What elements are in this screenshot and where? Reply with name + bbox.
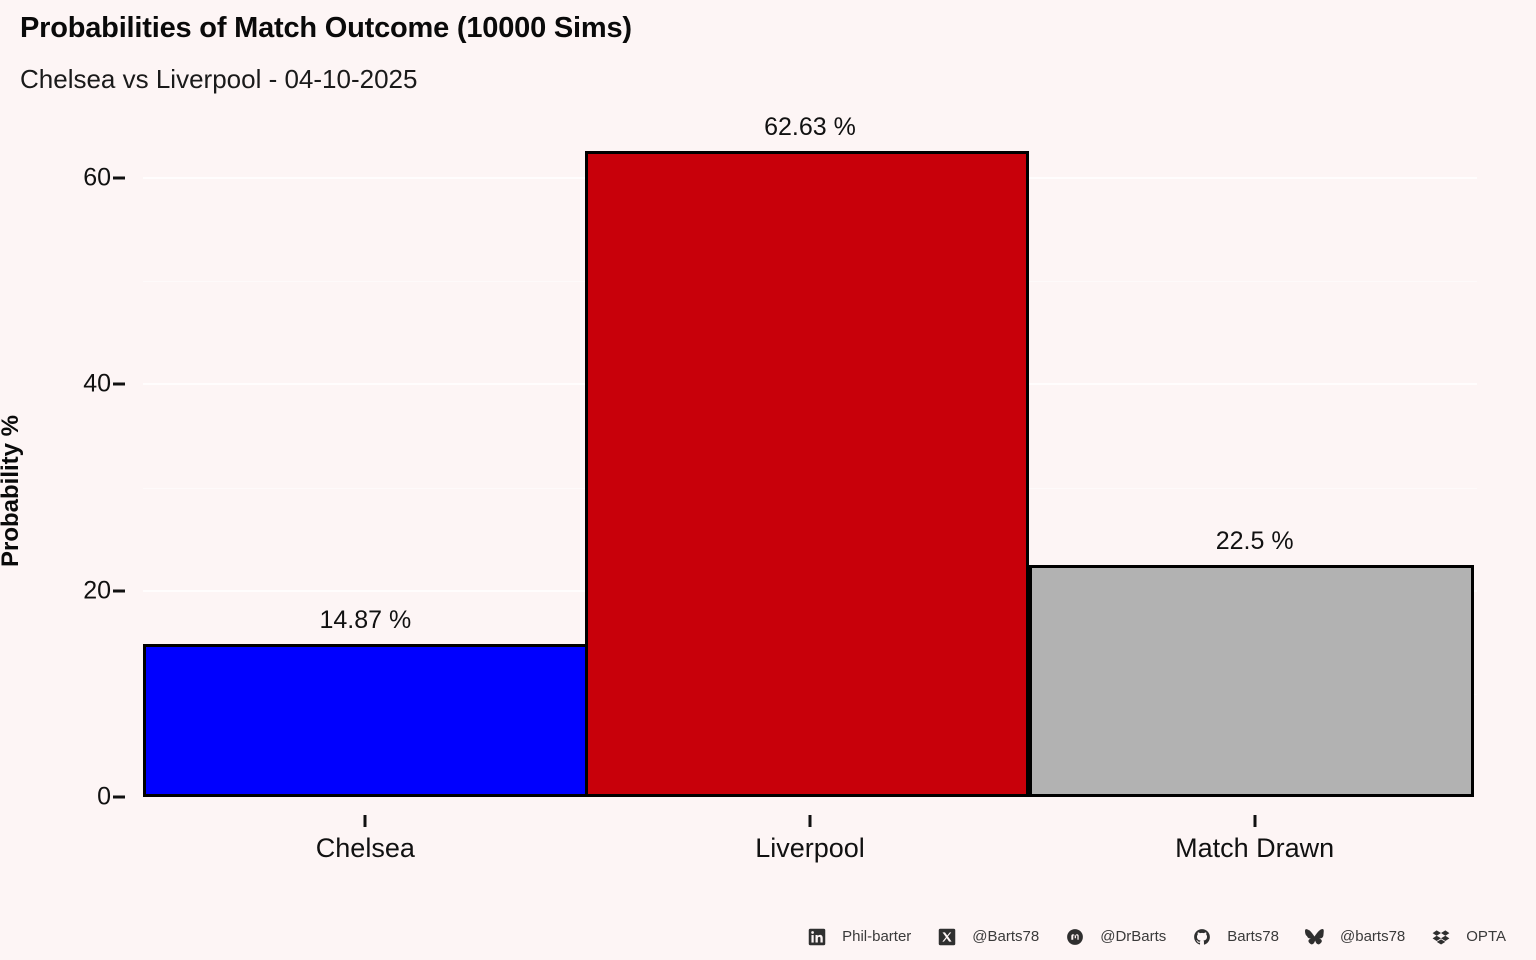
x-tick-label-match-drawn: Match Drawn	[1175, 833, 1334, 864]
social-handle: @DrBarts	[1100, 928, 1166, 945]
github-icon	[1192, 927, 1211, 946]
x-tick-mark	[809, 815, 812, 827]
bluesky-icon	[1305, 927, 1324, 946]
social-link-phil-barter[interactable]: Phil-barter	[807, 927, 937, 946]
x-twitter-icon	[937, 927, 956, 946]
bar-match-drawn	[1029, 565, 1474, 797]
chart-title: Probabilities of Match Outcome (10000 Si…	[20, 12, 632, 45]
bar-value-label: 62.63 %	[764, 113, 856, 142]
chart-subtitle: Chelsea vs Liverpool - 04-10-2025	[20, 64, 417, 95]
social-handle: @Barts78	[972, 928, 1039, 945]
y-tick-mark	[113, 589, 125, 592]
y-axis: 0204060 Probability %	[0, 115, 143, 815]
y-tick-label: 0	[97, 783, 111, 812]
y-tick-label: 60	[83, 164, 111, 193]
social-link-opta[interactable]: OPTA	[1431, 927, 1506, 946]
x-tick-mark	[1253, 815, 1256, 827]
y-tick-label: 20	[83, 576, 111, 605]
social-handle: @barts78	[1340, 928, 1405, 945]
social-handle: Barts78	[1227, 928, 1279, 945]
social-handle: Phil-barter	[842, 928, 911, 945]
social-handle: OPTA	[1466, 928, 1506, 945]
dropbox-icon	[1431, 927, 1450, 946]
chart-root: Probabilities of Match Outcome (10000 Si…	[0, 0, 1536, 960]
social-link-barts78[interactable]: @barts78	[1305, 927, 1431, 946]
x-tick-label-liverpool: Liverpool	[755, 833, 865, 864]
y-tick-label: 40	[83, 370, 111, 399]
bar-chelsea	[143, 644, 588, 797]
bar-value-label: 14.87 %	[319, 606, 411, 635]
plot-area	[143, 115, 1477, 797]
social-footer: Phil-barter@Barts78@DrBartsBarts78@barts…	[0, 927, 1536, 946]
social-link-barts78[interactable]: Barts78	[1192, 927, 1305, 946]
mastodon-icon	[1065, 927, 1084, 946]
social-link-drbarts[interactable]: @DrBarts	[1065, 927, 1192, 946]
x-axis: ChelseaLiverpoolMatch Drawn	[143, 797, 1477, 897]
x-tick-label-chelsea: Chelsea	[316, 833, 415, 864]
y-tick-mark	[113, 383, 125, 386]
x-tick-mark	[364, 815, 367, 827]
social-link-barts78[interactable]: @Barts78	[937, 927, 1065, 946]
y-tick-mark	[113, 796, 125, 799]
bar-liverpool	[585, 151, 1030, 797]
bar-value-label: 22.5 %	[1216, 527, 1294, 556]
y-axis-label: Probability %	[0, 415, 25, 567]
y-tick-mark	[113, 177, 125, 180]
linkedin-icon	[807, 927, 826, 946]
